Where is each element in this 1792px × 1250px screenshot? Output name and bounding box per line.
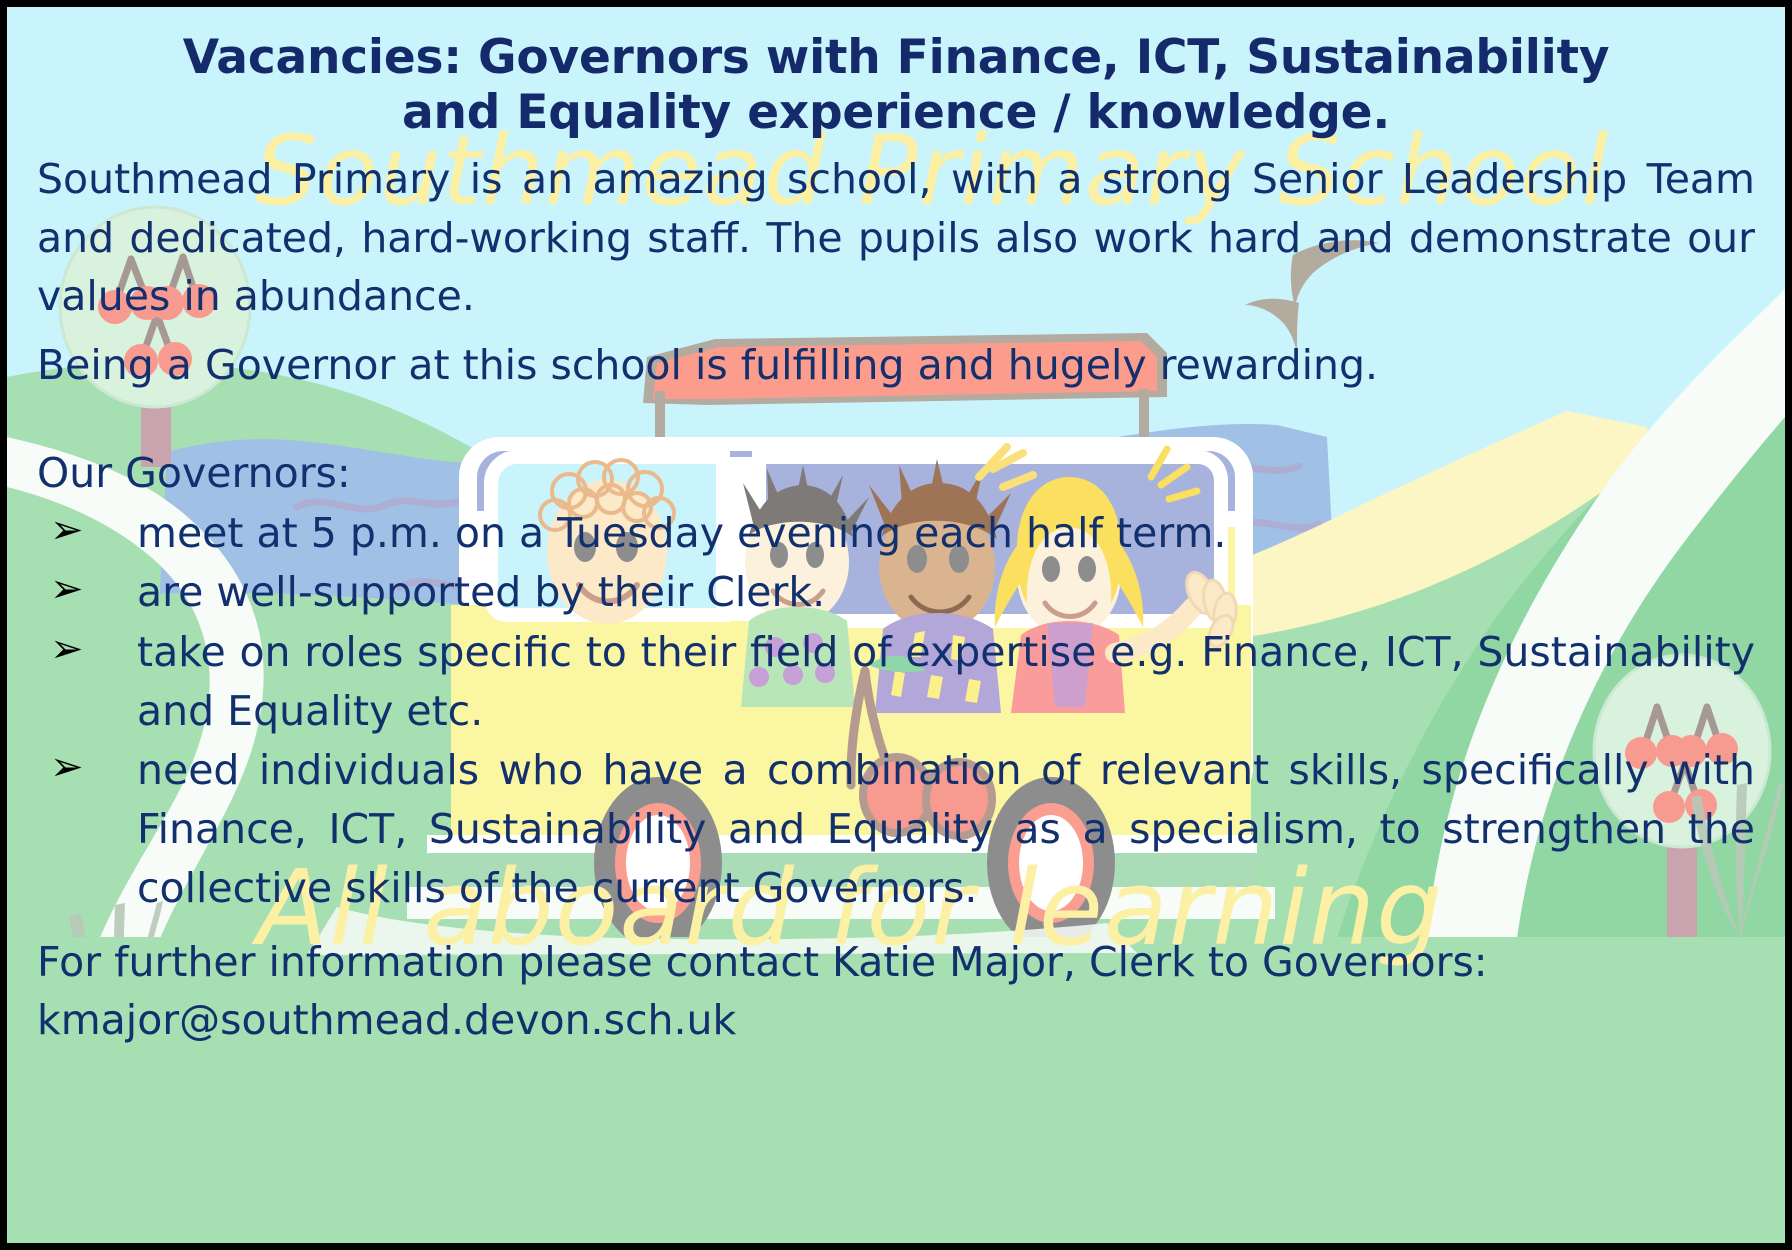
list-item-text: meet at 5 p.m. on a Tuesday evening each… — [137, 509, 1226, 557]
intro-paragraph-1: Southmead Primary is an amazing school, … — [37, 150, 1755, 326]
list-item: ➢ take on roles specific to their field … — [37, 623, 1755, 740]
arrow-bullet-icon: ➢ — [50, 561, 84, 618]
list-item: ➢ are well-supported by their Clerk. — [37, 563, 1755, 622]
page-title-line-2: and Equality experience / knowledge. — [402, 85, 1390, 140]
arrow-bullet-icon: ➢ — [50, 621, 84, 678]
arrow-bullet-icon: ➢ — [50, 739, 84, 796]
list-item-text: need individuals who have a combination … — [137, 746, 1755, 911]
list-item: ➢ meet at 5 p.m. on a Tuesday evening ea… — [37, 504, 1755, 563]
list-item: ➢ need individuals who have a combinatio… — [37, 741, 1755, 917]
page-title: Vacancies: Governors with Finance, ICT, … — [51, 31, 1741, 140]
governors-bullet-list: ➢ meet at 5 p.m. on a Tuesday evening ea… — [37, 504, 1755, 917]
contact-email[interactable]: kmajor@southmead.devon.sch.uk — [37, 991, 1755, 1049]
poster-content: Vacancies: Governors with Finance, ICT, … — [7, 7, 1785, 1243]
governors-list-label: Our Governors: — [37, 447, 1755, 500]
poster-canvas: Southmead Primary School All aboard for … — [0, 0, 1792, 1250]
arrow-bullet-icon: ➢ — [50, 502, 84, 559]
intro-paragraph-2: Being a Governor at this school is fulfi… — [37, 336, 1755, 395]
list-item-text: take on roles specific to their field of… — [137, 628, 1755, 735]
list-item-text: are well-supported by their Clerk. — [137, 568, 825, 616]
spacer — [33, 395, 1759, 447]
contact-line: For further information please contact K… — [37, 933, 1755, 991]
contact-block: For further information please contact K… — [37, 933, 1755, 1049]
page-title-line-1: Vacancies: Governors with Finance, ICT, … — [183, 30, 1610, 85]
